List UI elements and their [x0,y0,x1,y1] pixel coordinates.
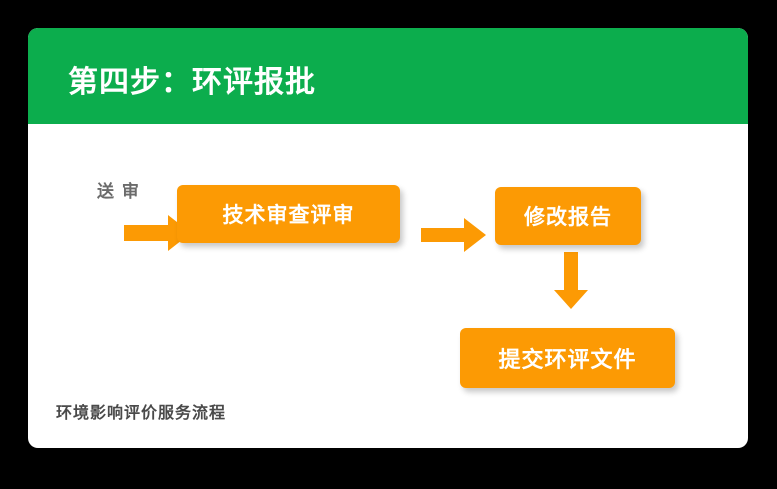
arrow-down-icon [551,252,591,310]
flow-node-revise-report[interactable]: 修改报告 [495,187,641,245]
diagram-caption: 环境影响评价服务流程 [56,399,226,423]
flow-node-label: 修改报告 [524,201,612,231]
page-title: 第四步：环评报批 [68,57,316,101]
card-header-band: 第四步：环评报批 [28,28,748,124]
flow-node-label: 技术审查评审 [223,199,355,229]
slide-card: 第四步：环评报批 送 审 技术审查评审 修改报告 提交环评文件 [28,28,748,448]
flow-node-technical-review[interactable]: 技术审查评审 [177,185,400,243]
process-flow-diagram: 送 审 技术审查评审 修改报告 提交环评文件 环境影响评价服务流程 [28,124,748,448]
flow-node-submit-files[interactable]: 提交环评文件 [460,328,675,388]
arrow-right-icon [421,215,487,255]
flow-node-label: 提交环评文件 [498,342,636,374]
flow-entry-label: 送 审 [97,177,140,202]
